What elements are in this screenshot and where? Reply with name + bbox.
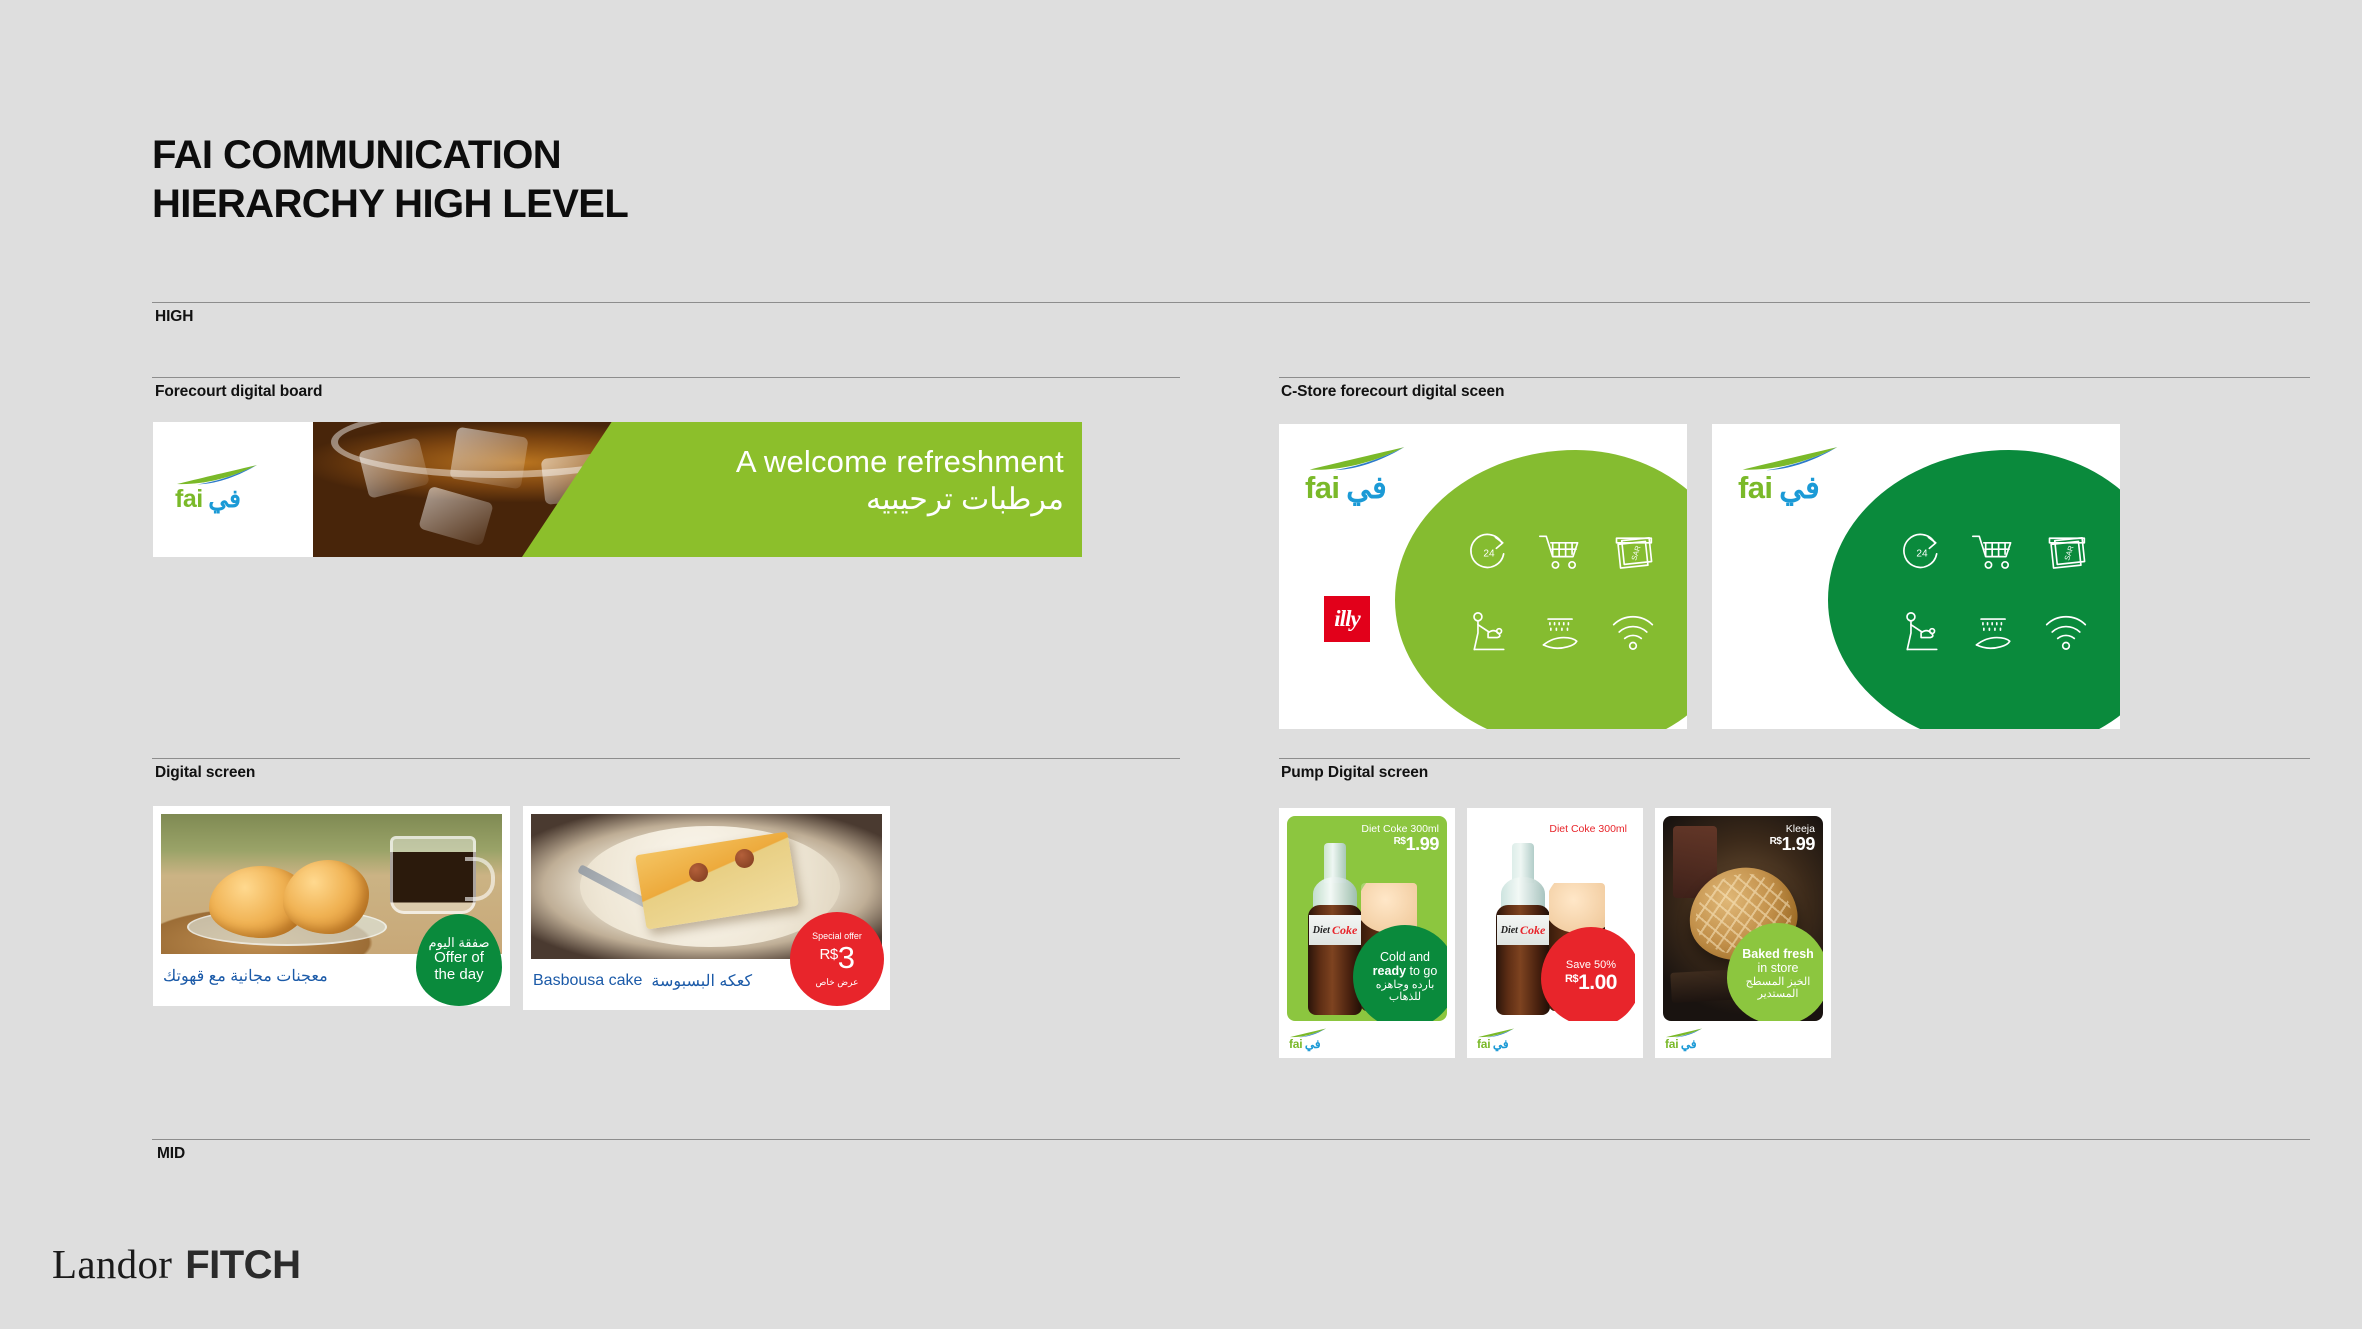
fai-arabic: في: [1681, 1037, 1697, 1051]
diet-word: Diet: [1313, 925, 1330, 936]
fai-wordmark: fai في: [1665, 1037, 1703, 1051]
car-wash-hand-icon: [1537, 611, 1585, 653]
tier-label-high: HIGH: [155, 308, 193, 326]
pump-badge-baked-fresh: Baked fresh in store الخبز المسطح المستد…: [1727, 923, 1823, 1021]
fai-logo: fai في: [1738, 446, 1842, 506]
fai-latin: fai: [1738, 470, 1772, 506]
shopping-cart-icon: [1970, 531, 2018, 573]
svg-text:24: 24: [1916, 549, 1928, 560]
badge-en-rest: to go: [1406, 964, 1437, 978]
illy-wordmark: illy: [1334, 606, 1359, 632]
coke-word: Coke: [1520, 923, 1545, 938]
fai-swoosh-icon: [1305, 446, 1409, 472]
service-icon-grid: 24 SAR: [1453, 512, 1669, 672]
product-price: R$1.99: [1770, 835, 1815, 854]
ice-cube: [449, 427, 528, 490]
badge-en-line1: Baked fresh: [1742, 947, 1814, 961]
landor-fitch-logo: Landor FITCH: [52, 1240, 300, 1288]
cstore-panel-plain[interactable]: fai في 24: [1712, 424, 2120, 729]
badge-price: R$1.00: [1565, 971, 1617, 995]
svg-text:SAR: SAR: [1629, 544, 1642, 561]
product-label: Kleeja R$1.99: [1770, 824, 1815, 854]
pump-badge-save-50: Save 50% R$1.00: [1541, 927, 1635, 1021]
badge-en-line1: Offer of: [434, 950, 484, 967]
tier-label-mid: MID: [157, 1145, 185, 1163]
badge-en-bold: Baked fresh: [1742, 947, 1814, 961]
divider-cstore: [1279, 377, 2310, 378]
24-hours-icon: 24: [1900, 530, 1944, 574]
svg-text:SAR: SAR: [2062, 544, 2075, 561]
fai-arabic: في: [1779, 470, 1820, 506]
product-label: Diet Coke 300ml: [1549, 824, 1627, 835]
ice-cube: [418, 486, 494, 546]
forecourt-banner[interactable]: fai في A welcome refreshment مرطبات ترحي…: [153, 422, 1082, 557]
fitch-wordmark: FITCH: [185, 1243, 300, 1288]
pump-card-kleeja[interactable]: Kleeja R$1.99 Baked fresh in store الخبز…: [1655, 808, 1831, 1058]
price-currency: R$: [1394, 836, 1406, 847]
page-title-line2: HIERARCHY HIGH LEVEL: [152, 180, 628, 229]
badge-en-line2: the day: [434, 967, 483, 984]
page-title: FAI COMMUNICATION HIERARCHY HIGH LEVEL: [152, 131, 628, 229]
slide-canvas: FAI COMMUNICATION HIERARCHY HIGH LEVEL H…: [0, 0, 2362, 1329]
badge-en-line2: ready to go: [1373, 964, 1438, 978]
divider-digital-screen: [152, 758, 1180, 759]
section-label-pump-screen: Pump Digital screen: [1281, 764, 1428, 782]
pump-card-canvas: Kleeja R$1.99 Baked fresh in store الخبز…: [1663, 816, 1823, 1021]
badge-en-bold: ready: [1373, 964, 1406, 978]
atm-cash-sar-icon: SAR: [1611, 530, 1655, 574]
fai-wordmark: fai في: [175, 484, 259, 514]
badge-arabic: صفقة اليوم: [428, 936, 489, 951]
digital-screen-card-offer-of-the-day[interactable]: معجنات مجانية مع قهوتك صفقة اليوم Offer …: [153, 806, 510, 1006]
fai-latin: fai: [1289, 1037, 1302, 1051]
diet-word: Diet: [1501, 925, 1518, 936]
badge-amount: 3: [838, 940, 855, 975]
svg-text:24: 24: [1483, 549, 1495, 560]
baby-changing-icon: [1899, 610, 1945, 654]
wifi-icon: [2043, 611, 2089, 653]
page-title-line1: FAI COMMUNICATION: [152, 131, 628, 180]
fai-latin: fai: [1477, 1037, 1490, 1051]
price-currency: R$: [1770, 836, 1782, 847]
section-label-forecourt: Forecourt digital board: [155, 383, 322, 401]
pump-card-diet-coke-white[interactable]: Diet Coke 300ml DietCoke Save 50% R$1.00: [1467, 808, 1643, 1058]
fai-latin: fai: [1305, 470, 1339, 506]
fai-swoosh-icon: [175, 464, 259, 486]
fai-arabic: في: [208, 484, 241, 514]
fai-wordmark: fai في: [1738, 470, 1842, 506]
badge-price: R$3: [820, 941, 855, 976]
cstore-panel-group: fai في illy 24: [1279, 424, 2120, 729]
fai-wordmark: fai في: [1305, 470, 1409, 506]
section-label-digital-screen: Digital screen: [155, 764, 255, 782]
caption-arabic: كعكه البسبوسة: [651, 971, 752, 991]
fai-latin: fai: [1665, 1037, 1678, 1051]
price-amount: 1.99: [1406, 834, 1439, 854]
pump-card-group: Diet Coke 300ml R$1.99 DietCoke Cold and…: [1279, 808, 1831, 1058]
pump-card-diet-coke-green[interactable]: Diet Coke 300ml R$1.99 DietCoke Cold and…: [1279, 808, 1455, 1058]
divider-high: [152, 302, 2310, 303]
caption-english: Basbousa cake: [533, 972, 642, 990]
bottle-label: DietCoke: [1497, 915, 1549, 945]
badge-en-line1: Cold and: [1380, 950, 1430, 964]
fai-logo: fai في: [1665, 1028, 1703, 1051]
service-icon-grid: 24 SAR: [1886, 512, 2102, 672]
badge-ar-line1: الخبز المسطح: [1746, 976, 1811, 989]
product-label: Diet Coke 300ml R$1.99: [1361, 824, 1439, 854]
fai-arabic: في: [1305, 1037, 1321, 1051]
divider-pump-screen: [1279, 758, 2310, 759]
section-label-cstore: C-Store forecourt digital sceen: [1281, 383, 1504, 401]
special-offer-badge: Special offer R$3 عرض خاص: [790, 912, 884, 1006]
badge-currency: R$: [820, 946, 838, 963]
baby-changing-icon: [1466, 610, 1512, 654]
product-price: R$1.99: [1361, 835, 1439, 854]
fai-wordmark: fai في: [1477, 1037, 1515, 1051]
fai-logo: fai في: [175, 464, 259, 514]
almond: [735, 849, 754, 868]
badge-currency: R$: [1565, 973, 1578, 985]
banner-headline-en: A welcome refreshment: [736, 444, 1064, 480]
badge-en-line2: in store: [1758, 961, 1799, 975]
badge-save-text: Save 50%: [1566, 959, 1616, 972]
badge-arabic: عرض خاص: [816, 977, 859, 987]
24-hours-icon: 24: [1467, 530, 1511, 574]
price-amount: 1.99: [1782, 834, 1815, 854]
pump-badge-cold-ready: Cold and ready to go بارده وجاهزه للذهاب: [1353, 925, 1447, 1021]
badge-amount: 1.00: [1578, 971, 1617, 994]
shopping-cart-icon: [1537, 531, 1585, 573]
badge-ar-line2: المستدير: [1758, 988, 1799, 1001]
pump-card-canvas: Diet Coke 300ml R$1.99 DietCoke Cold and…: [1287, 816, 1447, 1021]
fai-swoosh-icon: [1738, 446, 1842, 472]
banner-headline-ar: مرطبات ترحيبيه: [736, 482, 1064, 517]
illy-logo: illy: [1324, 596, 1370, 642]
fai-logo: fai في: [1289, 1028, 1327, 1051]
badge-ar-line1: بارده وجاهزه: [1376, 979, 1435, 992]
coke-word: Coke: [1332, 923, 1357, 938]
divider-forecourt: [152, 377, 1180, 378]
landor-wordmark: Landor: [52, 1240, 172, 1288]
wifi-icon: [1610, 611, 1656, 653]
divider-mid: [152, 1139, 2310, 1140]
product-name: Diet Coke 300ml: [1549, 824, 1627, 835]
fai-latin: fai: [175, 485, 203, 514]
car-wash-hand-icon: [1970, 611, 2018, 653]
badge-ar-line2: للذهاب: [1389, 991, 1421, 1004]
fai-arabic: في: [1493, 1037, 1509, 1051]
coffee-cup: [390, 836, 476, 914]
bottle-label: DietCoke: [1309, 915, 1361, 945]
cstore-panel-illy[interactable]: fai في illy 24: [1279, 424, 1687, 729]
croissant: [283, 860, 369, 934]
digital-screen-card-group: معجنات مجانية مع قهوتك صفقة اليوم Offer …: [153, 806, 890, 1010]
digital-screen-card-basbousa[interactable]: Basbousa cake كعكه البسبوسة Special offe…: [523, 806, 890, 1010]
fai-logo: fai في: [1305, 446, 1409, 506]
fai-arabic: في: [1346, 470, 1387, 506]
caption-arabic: معجنات مجانية مع قهوتك: [163, 966, 328, 986]
fai-wordmark: fai في: [1289, 1037, 1327, 1051]
banner-text-block: A welcome refreshment مرطبات ترحيبيه: [736, 444, 1064, 517]
atm-cash-sar-icon: SAR: [2044, 530, 2088, 574]
fai-logo: fai في: [1477, 1028, 1515, 1051]
pump-card-canvas: Diet Coke 300ml DietCoke Save 50% R$1.00: [1475, 816, 1635, 1021]
banner-logo-zone: fai في: [153, 422, 313, 557]
